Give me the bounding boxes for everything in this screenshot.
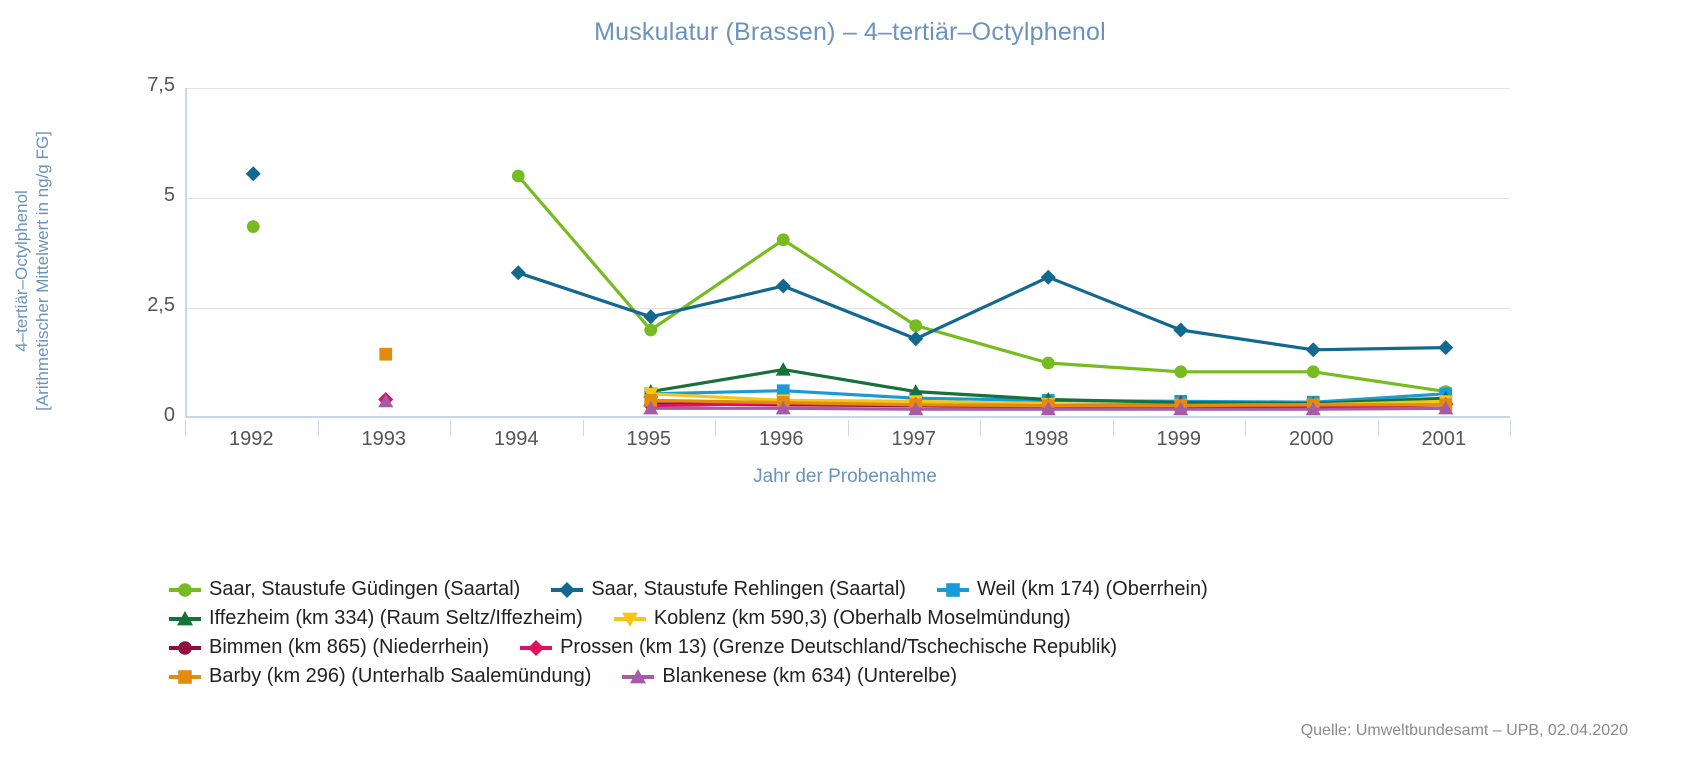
x-axis-tick-label: 1995 [579,428,719,451]
legend: Saar, Staustufe Güdingen (Saartal)Saar, … [168,578,1568,694]
data-point [246,166,261,181]
data-point [908,331,923,346]
y-axis-tick-label: 7,5 [25,74,175,97]
legend-label: Weil (km 174) (Oberrhein) [977,578,1208,601]
data-point [379,348,392,361]
diamond-marker-icon [550,579,584,601]
diamond-marker-icon [519,637,553,659]
data-point [644,324,657,337]
legend-label: Saar, Staustufe Güdingen (Saartal) [209,578,520,601]
data-point [1174,365,1187,378]
x-axis-tick-label: 1996 [711,428,851,451]
legend-row: Iffezheim (km 334) (Raum Seltz/Iffezheim… [168,607,1568,630]
x-axis-tick-label: 1994 [446,428,586,451]
x-axis-tick-label: 2000 [1241,428,1381,451]
x-axis-tick-label: 1993 [314,428,454,451]
data-point [512,170,525,183]
legend-item[interactable]: Saar, Staustufe Rehlingen (Saartal) [550,578,906,601]
legend-item[interactable]: Saar, Staustufe Güdingen (Saartal) [168,578,520,601]
legend-label: Barby (km 296) (Unterhalb Saalemündung) [209,665,591,688]
data-point [776,279,791,294]
legend-item[interactable]: Weil (km 174) (Oberrhein) [936,578,1208,601]
data-point [247,220,260,233]
source-note: Quelle: Umweltbundesamt – UPB, 02.04.202… [1301,722,1628,740]
chart-title: Muskulatur (Brassen) – 4–tertiär–Octylph… [0,18,1700,47]
legend-label: Bimmen (km 865) (Niederrhein) [209,636,489,659]
x-axis-tick-label: 1998 [976,428,1116,451]
data-point [1041,270,1056,285]
x-axis-tick-label: 1992 [181,428,321,451]
data-point [511,265,526,280]
legend-label: Saar, Staustufe Rehlingen (Saartal) [591,578,906,601]
data-point [1307,365,1320,378]
data-point [1042,357,1055,370]
y-axis-tick-label: 0 [25,404,175,427]
chart-container: Muskulatur (Brassen) – 4–tertiär–Octylph… [0,0,1700,760]
x-axis-tick-label: 1997 [844,428,984,451]
data-point [1438,340,1453,355]
legend-item[interactable]: Koblenz (km 590,3) (Oberhalb Moselmündun… [613,607,1071,630]
triangle-down-marker-icon [613,608,647,630]
data-point [1173,323,1188,338]
series-0 [247,170,1452,398]
triangle-marker-icon [168,608,202,630]
legend-label: Koblenz (km 590,3) (Oberhalb Moselmündun… [654,607,1071,630]
gridline [187,418,1510,419]
circle-marker-icon [168,637,202,659]
plot-area [185,88,1510,418]
legend-item[interactable]: Bimmen (km 865) (Niederrhein) [168,636,489,659]
data-point [909,319,922,332]
legend-item[interactable]: Prossen (km 13) (Grenze Deutschland/Tsch… [519,636,1117,659]
legend-row: Saar, Staustufe Güdingen (Saartal)Saar, … [168,578,1568,601]
legend-item[interactable]: Barby (km 296) (Unterhalb Saalemündung) [168,665,591,688]
series-lines [187,88,1512,418]
legend-label: Prossen (km 13) (Grenze Deutschland/Tsch… [560,636,1117,659]
legend-label: Iffezheim (km 334) (Raum Seltz/Iffezheim… [209,607,583,630]
x-axis-tick-label: 2001 [1374,428,1514,451]
legend-item[interactable]: Blankenese (km 634) (Unterelbe) [621,665,957,688]
y-axis-tick-label: 2,5 [25,294,175,317]
square-marker-icon [168,666,202,688]
legend-item[interactable]: Iffezheim (km 334) (Raum Seltz/Iffezheim… [168,607,583,630]
y-axis-tick-label: 5 [25,184,175,207]
circle-marker-icon [168,579,202,601]
square-marker-icon [936,579,970,601]
legend-label: Blankenese (km 634) (Unterelbe) [662,665,957,688]
x-axis-label: Jahr der Probenahme [180,466,1510,488]
x-axis-tick-label: 1999 [1109,428,1249,451]
data-point [777,233,790,246]
data-point [1306,342,1321,357]
triangle-marker-icon [621,666,655,688]
legend-row: Bimmen (km 865) (Niederrhein)Prossen (km… [168,636,1568,659]
legend-row: Barby (km 296) (Unterhalb Saalemündung)B… [168,665,1568,688]
series-1 [246,166,1454,357]
